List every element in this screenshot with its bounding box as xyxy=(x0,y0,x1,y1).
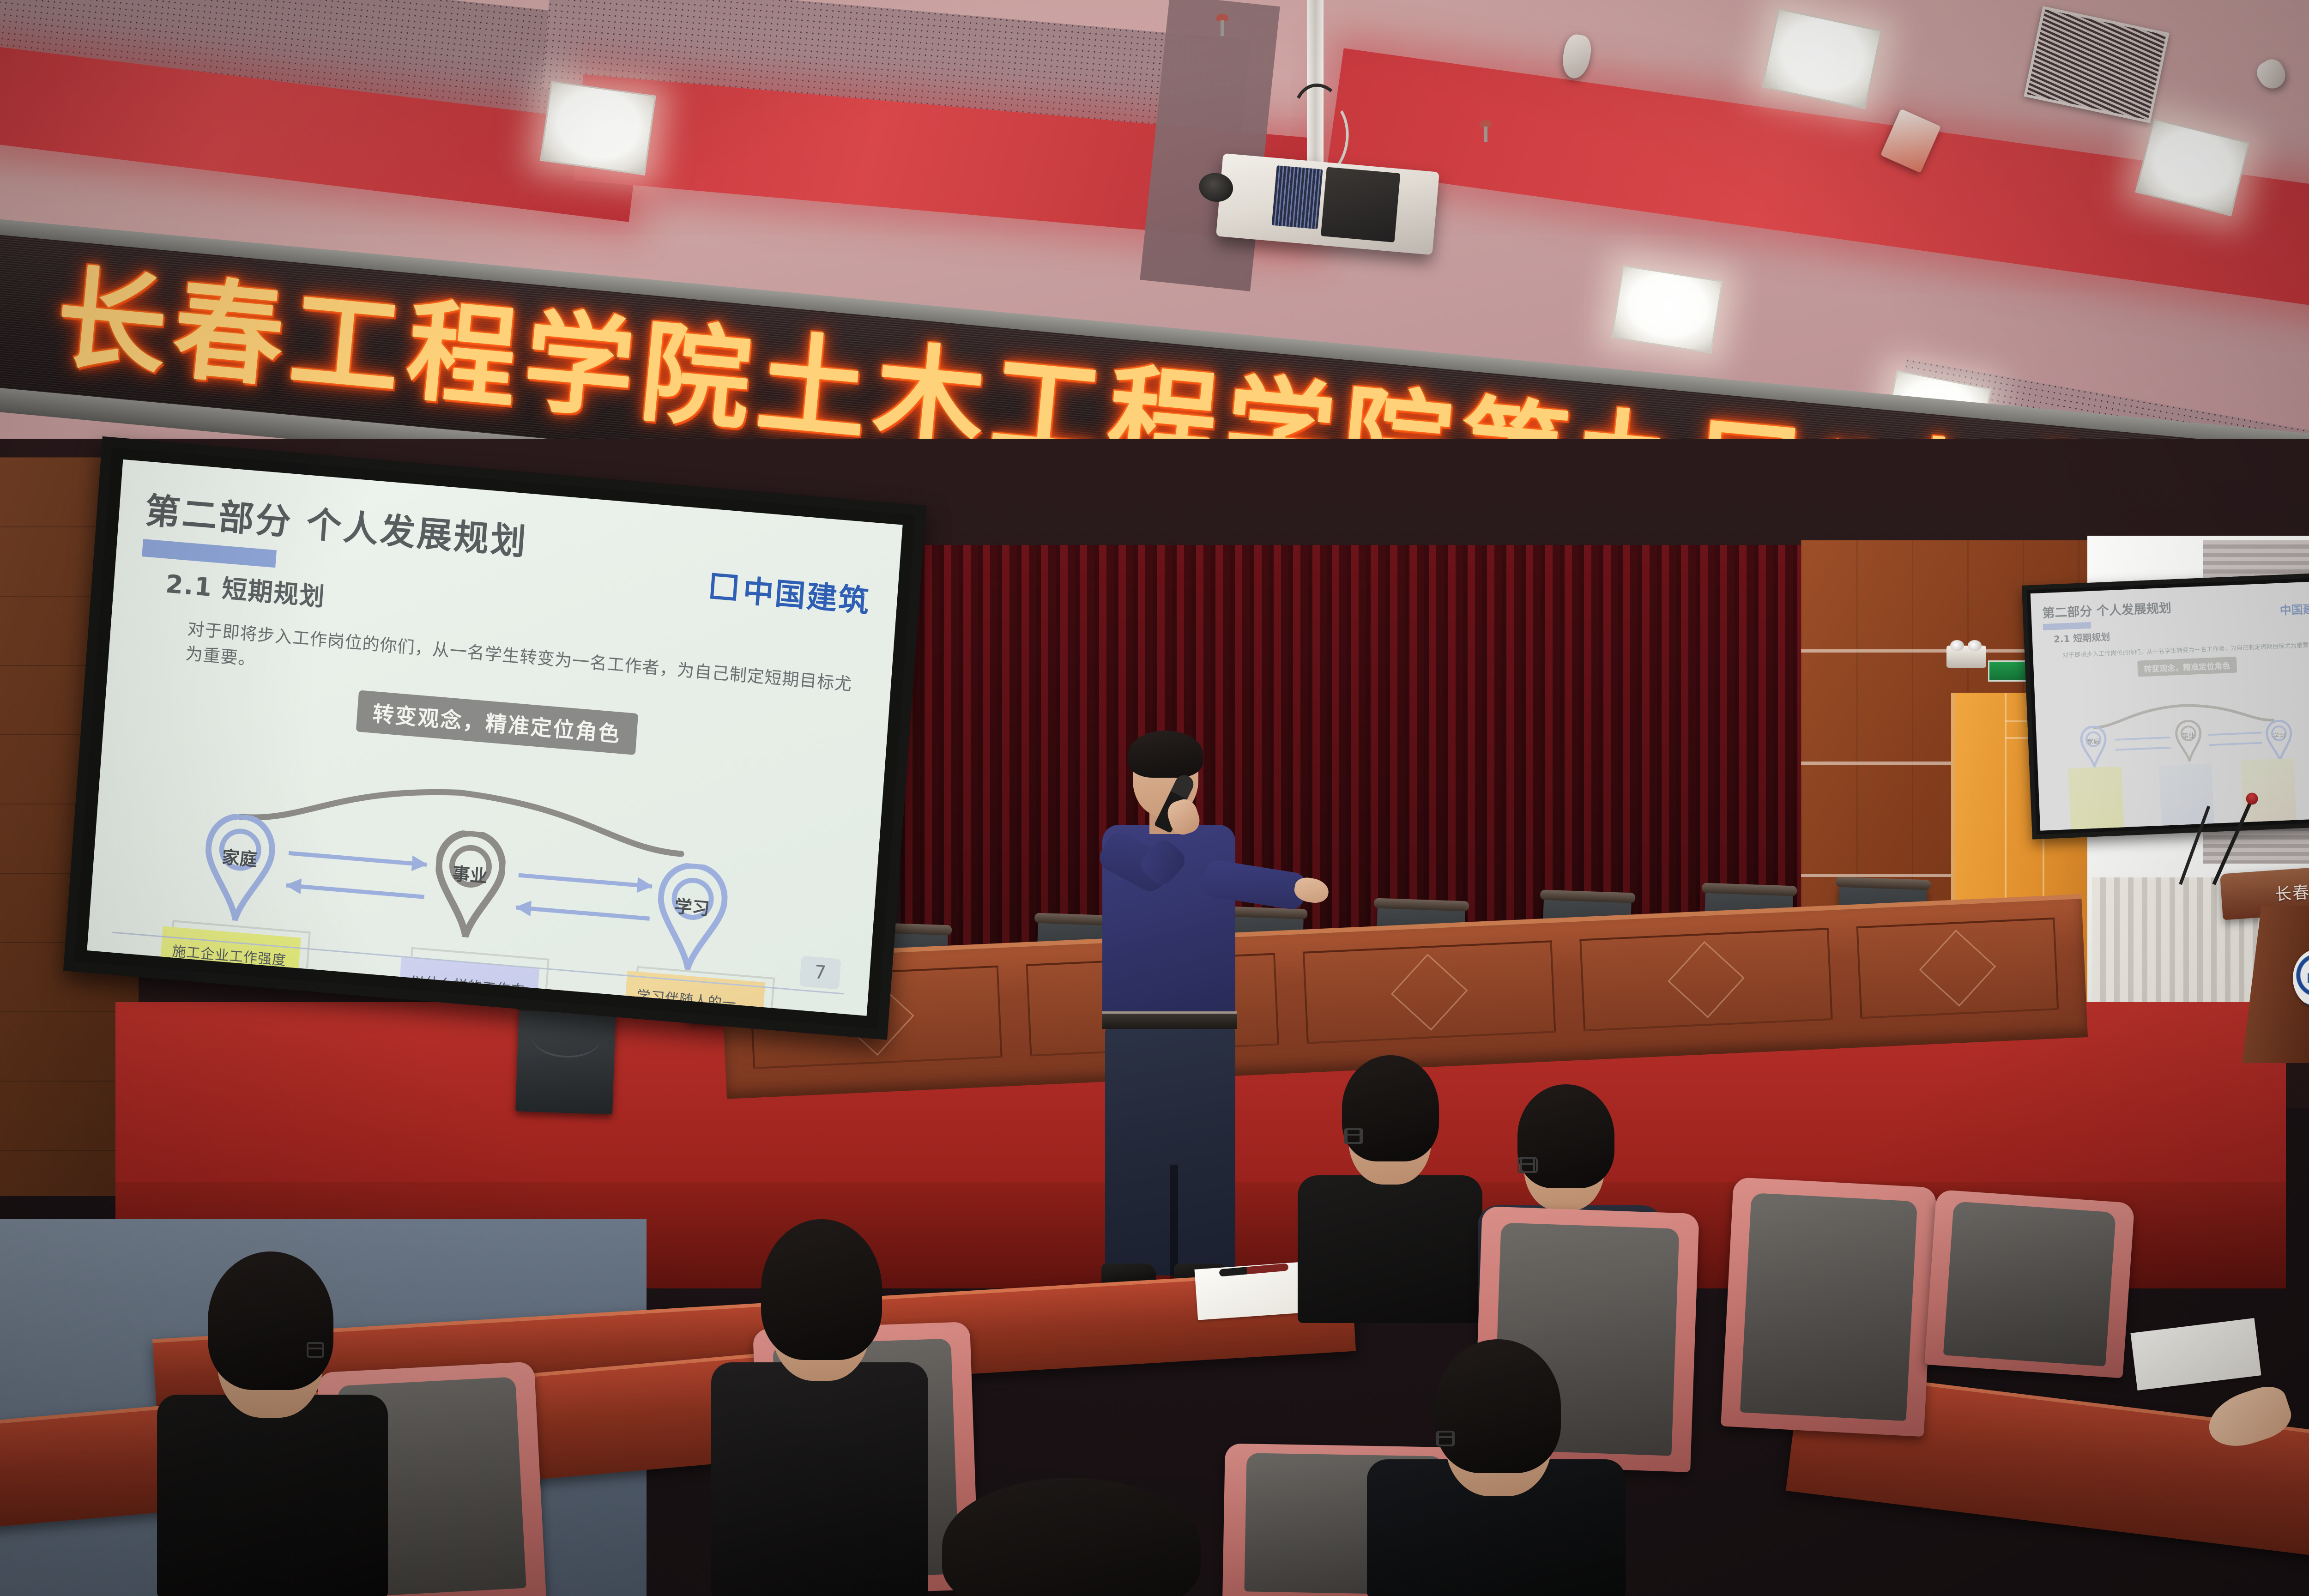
main-projection-screen: 第二部分 个人发展规划 2.1 短期规划 中国建筑 对于即将步入工作岗位的你们，… xyxy=(63,436,926,1040)
presenter-legs xyxy=(1105,1026,1235,1276)
secondary-accent-bar xyxy=(2043,622,2091,630)
slide: 第二部分 个人发展规划 2.1 短期规划 中国建筑 对于即将步入工作岗位的你们，… xyxy=(87,459,902,1016)
seat-cushion xyxy=(1943,1201,2116,1366)
arrow-left-icon xyxy=(286,883,425,899)
secondary-slide-title: 第二部分 个人发展规划 xyxy=(2042,591,2309,621)
logo-mark-icon xyxy=(710,573,738,601)
presenter-belt xyxy=(1102,1011,1237,1029)
audience-body xyxy=(1298,1175,1482,1323)
secondary-note-family xyxy=(2068,766,2125,830)
ceiling-light-panel-4 xyxy=(1611,265,1723,354)
audience-body xyxy=(711,1362,928,1596)
head-table-panel xyxy=(1856,918,2059,1019)
glasses-icon xyxy=(1520,1163,1535,1165)
audience-member-1 xyxy=(152,1201,393,1596)
audience-member-6 xyxy=(942,1478,1201,1596)
secondary-pin-career: 事业 xyxy=(2175,719,2203,762)
projector-vent-icon xyxy=(1272,165,1323,229)
arrow-right-icon xyxy=(519,873,653,889)
pin-marker-career: 事业 xyxy=(431,828,508,940)
lecture-hall-photo: 长春工程学院土木工程学院第九届“土木工程师讲坛” xyxy=(0,0,2309,1596)
secondary-slide: 第二部分 个人发展规划 2.1 短期规划 中国建筑 对于即将步入工作岗位的你们，… xyxy=(2031,580,2309,830)
seat-cushion xyxy=(1740,1193,1917,1421)
audience-hair xyxy=(1342,1055,1439,1161)
arrow-right-icon xyxy=(289,851,427,867)
table-diamond-ornament xyxy=(1919,930,1996,1007)
secondary-company-logo: 中国建筑 xyxy=(2279,599,2309,618)
secondary-pin-label-career: 事业 xyxy=(2175,731,2202,741)
slide-accent-bar xyxy=(142,539,277,568)
arrow-career-study xyxy=(516,873,653,926)
audience-hair xyxy=(1435,1339,1561,1473)
secondary-pin-study: 学习 xyxy=(2265,719,2294,762)
secondary-pin-label-study: 学习 xyxy=(2266,731,2293,741)
audience-hair xyxy=(942,1478,1201,1596)
audience-body xyxy=(157,1395,388,1596)
pin-marker-family: 家庭 xyxy=(200,812,277,924)
arrow-family-career xyxy=(286,851,427,904)
emergency-light-icon xyxy=(1946,646,1986,668)
secondary-arrow-right-1 xyxy=(2115,737,2170,741)
auditorium-seat[interactable] xyxy=(1721,1177,1937,1437)
slide-page-number: 7 xyxy=(799,956,841,990)
notepaper xyxy=(2130,1318,2261,1390)
fire-sprinkler-icon-2 xyxy=(1215,14,1230,38)
glasses-icon xyxy=(307,1348,324,1349)
audience-member-3 xyxy=(1298,1023,1482,1318)
glasses-icon xyxy=(1436,1436,1455,1438)
auditorium-seat[interactable] xyxy=(1924,1189,2134,1378)
projector-rear-panel xyxy=(1321,167,1400,242)
glasses-icon xyxy=(1346,1134,1361,1136)
projection-surface: 第二部分 个人发展规划 2.1 短期规划 中国建筑 对于即将步入工作岗位的你们，… xyxy=(87,459,902,1016)
audience-member-5 xyxy=(1367,1321,1626,1596)
head-table-panel xyxy=(1579,928,1833,1031)
ceiling-light-panel-1 xyxy=(540,81,656,175)
secondary-pin-family: 家庭 xyxy=(2079,725,2108,768)
fire-sprinkler-icon xyxy=(1478,120,1493,144)
stage-chair xyxy=(515,1005,616,1114)
audience-hair xyxy=(208,1251,333,1390)
secondary-note-career xyxy=(2159,763,2215,831)
table-diamond-ornament xyxy=(1391,954,1468,1031)
presenter-leg-gap xyxy=(1170,1165,1178,1280)
slide-highlight-tag: 转变观念，精准定位角色 xyxy=(356,690,638,755)
audience-member-2 xyxy=(711,1164,933,1596)
pin-marker-study: 学习 xyxy=(653,861,730,973)
secondary-pin-label-family: 家庭 xyxy=(2080,737,2107,747)
secondary-arrow-right-2 xyxy=(2208,732,2262,736)
secondary-projection-screen: 第二部分 个人发展规划 2.1 短期规划 中国建筑 对于即将步入工作岗位的你们，… xyxy=(2022,572,2309,840)
table-diamond-ornament xyxy=(1668,941,1745,1018)
arrow-left-icon xyxy=(516,905,650,920)
secondary-highlight-tag: 转变观念，精准定位角色 xyxy=(2137,657,2237,677)
audience-hair xyxy=(761,1219,882,1360)
podium-name-plate: 长春工程学院 xyxy=(2274,874,2309,906)
secondary-arrow-left-2 xyxy=(2209,742,2262,746)
presenter xyxy=(1051,734,1309,1284)
secondary-arrow-left-1 xyxy=(2116,747,2171,751)
presenter-hair xyxy=(1128,731,1203,778)
